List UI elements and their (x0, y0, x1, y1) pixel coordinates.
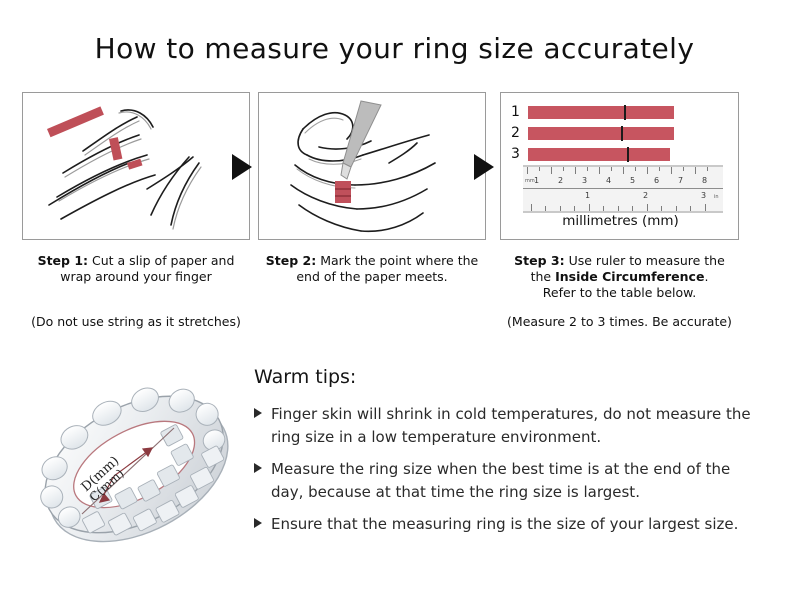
ruler-cm-tick-2: 2 (558, 177, 563, 185)
step-3-line2-emphasis: Inside Circumference (555, 269, 704, 284)
tip-text: Ensure that the measuring ring is the si… (271, 513, 738, 536)
step-3-line2-prefix: the (531, 269, 556, 284)
step-1-line2: wrap around your finger (60, 269, 212, 284)
paper-strip-bar-2 (528, 127, 674, 140)
page-title: How to measure your ring size accurately (0, 32, 789, 65)
paper-strip-samples: 1 2 3 (511, 103, 733, 166)
arrow-right-icon-1 (232, 154, 252, 180)
tip-item: Measure the ring size when the best time… (254, 458, 764, 504)
step-3-column: 1 2 3 (500, 92, 739, 301)
ruler-cm-tick-5: 5 (630, 177, 635, 185)
step-3-measure-panel: 1 2 3 (500, 92, 739, 240)
bullet-triangle-icon (254, 463, 262, 473)
strip-mark-1 (624, 105, 626, 120)
step-3-line3: Refer to the table below. (543, 285, 696, 300)
step-2-line1: Mark the point where the (320, 253, 478, 268)
strip-mark-3 (627, 147, 629, 162)
ruler-inch-tick-1: 1 (585, 192, 590, 200)
paper-strip-row-2: 2 (511, 124, 733, 142)
ruler-cm-tick-1: 1 (534, 177, 539, 185)
warm-tips-section: Warm tips: Finger skin will shrink in co… (254, 366, 764, 545)
paper-strip-number-1: 1 (511, 105, 528, 119)
paper-strip-bar-3 (528, 148, 670, 161)
step-2-caption: Step 2: Mark the point where the end of … (258, 253, 486, 285)
ruler-inch-tick-2: 2 (643, 192, 648, 200)
strip-mark-2 (621, 126, 623, 141)
ruler-center-line (523, 188, 723, 189)
step-1-illustration-panel (22, 92, 250, 240)
ruler-inch-tick-3: 3 (701, 192, 706, 200)
ring-diagram: D(mm) C(mm) (24, 352, 249, 584)
warm-tips-heading: Warm tips: (254, 366, 764, 388)
tip-text: Measure the ring size when the best time… (271, 458, 764, 504)
step-2-illustration-panel (258, 92, 486, 240)
paper-strip-row-3: 3 (511, 145, 733, 163)
ruler-cm-tick-6: 6 (654, 177, 659, 185)
tip-item: Ensure that the measuring ring is the si… (254, 513, 764, 536)
steps-row: Step 1: Cut a slip of paper and wrap aro… (0, 92, 789, 342)
step-2-label: Step 2: (266, 253, 316, 268)
tip-text: Finger skin will shrink in cold temperat… (271, 403, 764, 449)
step-1-caption: Step 1: Cut a slip of paper and wrap aro… (22, 253, 250, 285)
ring-illustration: D(mm) C(mm) (24, 352, 249, 584)
ruler-graphic: mm 1 2 3 4 5 6 7 8 (523, 165, 723, 213)
step-1-column: Step 1: Cut a slip of paper and wrap aro… (22, 92, 250, 285)
step-1-note: (Do not use string as it stretches) (22, 314, 250, 329)
step-1-label: Step 1: (38, 253, 88, 268)
bullet-triangle-icon (254, 408, 262, 418)
step-2-line2: end of the paper meets. (296, 269, 447, 284)
step-2-column: Step 2: Mark the point where the end of … (258, 92, 486, 285)
hand-with-paper-strip-illustration (23, 93, 249, 239)
paper-strip-row-1: 1 (511, 103, 733, 121)
step-3-caption: Step 3: Use ruler to measure the the Ins… (500, 253, 739, 301)
step-3-note: (Measure 2 to 3 times. Be accurate) (500, 314, 739, 329)
hand-marking-paper-illustration (259, 93, 485, 239)
ruler-inch-unit: in (714, 194, 719, 200)
millimetres-label: millimetres (mm) (501, 213, 739, 229)
step-3-label: Step 3: (514, 253, 564, 268)
bullet-triangle-icon (254, 518, 262, 528)
step-1-line1: Cut a slip of paper and (92, 253, 234, 268)
arrow-right-icon-2 (474, 154, 494, 180)
paper-strip-number-2: 2 (511, 126, 528, 140)
ruler-cm-tick-4: 4 (606, 177, 611, 185)
step-3-line2-suffix: . (704, 269, 708, 284)
ruler-cm-tick-7: 7 (678, 177, 683, 185)
ruler-cm-tick-3: 3 (582, 177, 587, 185)
step-3-line1: Use ruler to measure the (569, 253, 725, 268)
ruler-cm-tick-8: 8 (702, 177, 707, 185)
tip-item: Finger skin will shrink in cold temperat… (254, 403, 764, 449)
paper-strip-bar-1 (528, 106, 674, 119)
paper-strip-number-3: 3 (511, 147, 528, 161)
